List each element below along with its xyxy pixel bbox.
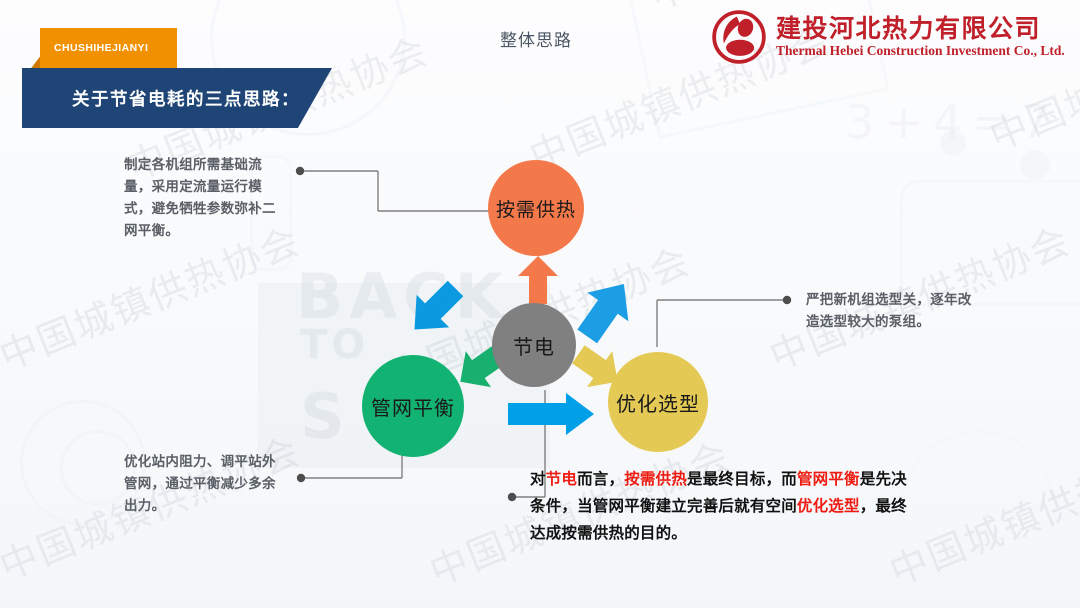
summary-highlight: 节电 bbox=[546, 470, 577, 488]
connector-top-left bbox=[296, 167, 492, 211]
connector-bottom-left bbox=[297, 448, 402, 482]
arrow-right-blue-icon bbox=[508, 393, 594, 435]
arrow-upright-blue-icon bbox=[570, 276, 640, 346]
summary-plain: 对 bbox=[530, 470, 546, 488]
arrow-upleft-blue-icon bbox=[404, 276, 466, 342]
summary-highlight: 管网平衡 bbox=[797, 470, 860, 488]
circle-network-balance[interactable]: 管网平衡 bbox=[362, 355, 464, 457]
circle-demand-heating[interactable]: 按需供热 bbox=[488, 160, 584, 256]
note-bottom-left: 优化站内阻力、调平站外管网，通过平衡减少多余出力。 bbox=[124, 452, 284, 518]
summary-highlight: 优化选型 bbox=[797, 497, 860, 515]
circle-label: 优化选型 bbox=[616, 388, 700, 417]
connector-right bbox=[657, 296, 791, 347]
arrow-up-orange-icon bbox=[518, 256, 558, 304]
summary-highlight: 按需供热 bbox=[624, 470, 687, 488]
circle-label: 按需供热 bbox=[496, 195, 576, 222]
summary-plain: 而言， bbox=[577, 470, 624, 488]
circle-label: 节电 bbox=[513, 331, 555, 360]
circle-optimized-selection[interactable]: 优化选型 bbox=[608, 352, 708, 452]
note-top-left: 制定各机组所需基础流量，采用定流量运行模式，避免牺牲参数弥补二网平衡。 bbox=[124, 155, 284, 242]
circle-label: 管网平衡 bbox=[371, 392, 455, 421]
summary-plain: 是最终目标，而 bbox=[687, 470, 797, 488]
circle-power-saving[interactable]: 节电 bbox=[492, 303, 576, 387]
summary-text: 对节电而言，按需供热是最终目标，而管网平衡是先决条件，当管网平衡建立完善后就有空… bbox=[530, 466, 915, 547]
note-right: 严把新机组选型关，逐年改造选型较大的泵组。 bbox=[806, 290, 981, 334]
bottom-strip bbox=[0, 602, 1080, 608]
slide-canvas: 3+4=7 BACK TO S 中国城镇供热协会 中国城镇供热协会 中国城镇供热… bbox=[0, 0, 1080, 608]
